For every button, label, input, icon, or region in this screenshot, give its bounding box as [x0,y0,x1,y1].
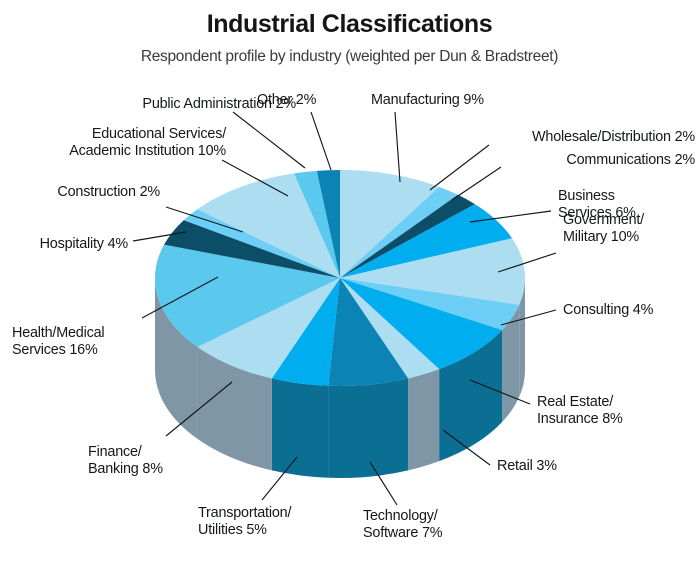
label-realestate-line2: Insurance 8% [537,411,697,428]
label-public-administration: Public Administration 2% [0,96,296,113]
label-other: Other 2% [257,92,367,109]
leader-other [311,112,331,170]
pie-side-10 [272,378,328,477]
label-finance-line2: Banking 8% [88,461,228,478]
leader-communications [452,167,501,200]
label-technology-line2: Software 7% [363,525,513,542]
label-wholesale: Wholesale/Distribution 2% [399,129,695,146]
label-health-line1: Health/Medical [12,325,192,342]
label-manufacturing: Manufacturing 9% [371,92,571,109]
label-finance-line1: Finance/ [88,444,228,461]
label-educational-line1: Educational Services/ [0,126,226,143]
leader-manufacturing [395,112,400,182]
label-educational-line2: Academic Institution 10% [0,143,226,160]
label-realestate-line1: Real Estate/ [537,394,697,411]
label-government-line2: Military 10% [563,229,699,246]
label-transportation-line2: Utilities 5% [198,522,368,539]
label-communications: Communications 2% [399,152,695,169]
pie-body [155,170,525,478]
pie-side-9 [328,378,408,478]
label-business-line2: Services 6% [558,205,698,222]
label-health-line2: Services 16% [12,342,192,359]
pie-side-8 [408,369,439,470]
label-technology-line1: Technology/ [363,508,513,525]
chart-container: Industrial Classifications Respondent pr… [0,0,699,561]
label-business-line1: Business [558,188,698,205]
label-transportation-line1: Transportation/ [198,505,368,522]
label-retail: Retail 3% [497,458,627,475]
label-hospitality: Hospitality 4% [0,236,128,253]
label-consulting: Consulting 4% [563,302,699,319]
leader-public-administration [233,112,305,168]
label-construction: Construction 2% [0,184,160,201]
